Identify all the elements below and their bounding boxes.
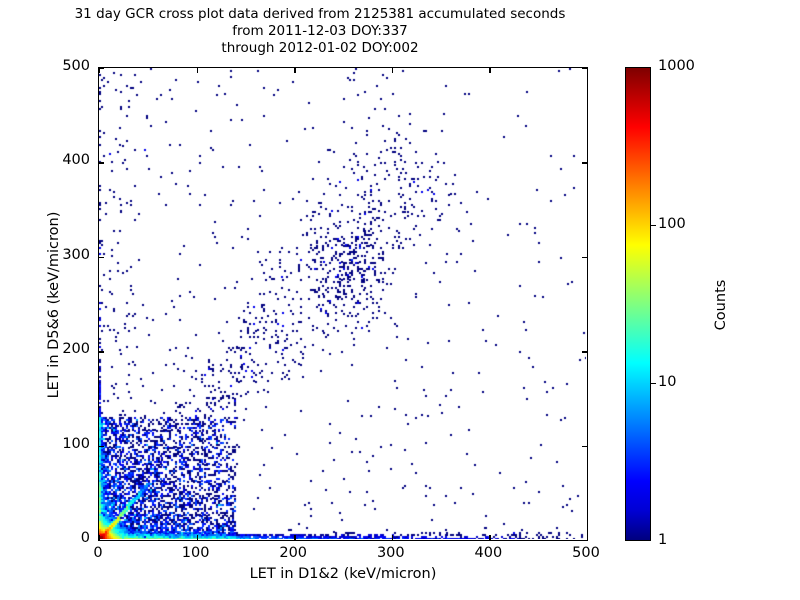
y-tick-100 xyxy=(582,446,587,447)
y-tick-100 xyxy=(99,446,104,447)
x-tick-label-400: 400 xyxy=(458,545,518,561)
y-tick-500 xyxy=(582,68,587,69)
title-line-2: from 2011-12-03 DOY:337 xyxy=(0,23,640,40)
x-tick-500 xyxy=(587,535,588,540)
y-tick-0 xyxy=(99,540,104,541)
x-tick-300 xyxy=(392,535,393,540)
x-tick-100 xyxy=(197,535,198,540)
y-tick-300 xyxy=(582,257,587,258)
x-tick-100 xyxy=(197,68,198,73)
colorbar-tick-label-1000: 1000 xyxy=(658,58,695,74)
colorbar[interactable] xyxy=(625,67,651,541)
x-tick-200 xyxy=(294,535,295,540)
x-tick-400 xyxy=(489,535,490,540)
y-axis-label: LET in D5&6 (keV/micron) xyxy=(46,68,62,542)
y-tick-200 xyxy=(582,351,587,352)
plot-area[interactable] xyxy=(98,67,588,541)
x-tick-label-200: 200 xyxy=(263,545,323,561)
x-tick-label-500: 500 xyxy=(556,545,616,561)
title-line-1: 31 day GCR cross plot data derived from … xyxy=(0,6,640,23)
figure-title: 31 day GCR cross plot data derived from … xyxy=(0,6,640,57)
y-tick-500 xyxy=(99,68,104,69)
x-axis-label: LET in D1&2 (keV/micron) xyxy=(98,566,588,582)
colorbar-tick-label-1: 1 xyxy=(658,532,667,548)
colorbar-tick-label-100: 100 xyxy=(658,216,686,232)
colorbar-gradient xyxy=(626,68,650,540)
y-tick-0 xyxy=(582,540,587,541)
y-tick-400 xyxy=(582,162,587,163)
x-tick-label-300: 300 xyxy=(361,545,421,561)
colorbar-tick-10 xyxy=(651,383,656,384)
x-tick-label-0: 0 xyxy=(68,545,128,561)
y-tick-200 xyxy=(99,351,104,352)
y-tick-300 xyxy=(99,257,104,258)
x-tick-label-100: 100 xyxy=(166,545,226,561)
y-tick-400 xyxy=(99,162,104,163)
colorbar-label: Counts xyxy=(713,185,729,425)
x-tick-400 xyxy=(489,68,490,73)
x-tick-200 xyxy=(294,68,295,73)
density-scatter-plot xyxy=(99,68,586,539)
title-line-3: through 2012-01-02 DOY:002 xyxy=(0,40,640,57)
colorbar-tick-100 xyxy=(651,225,656,226)
colorbar-tick-label-10: 10 xyxy=(658,374,676,390)
x-tick-500 xyxy=(587,68,588,73)
x-tick-300 xyxy=(392,68,393,73)
